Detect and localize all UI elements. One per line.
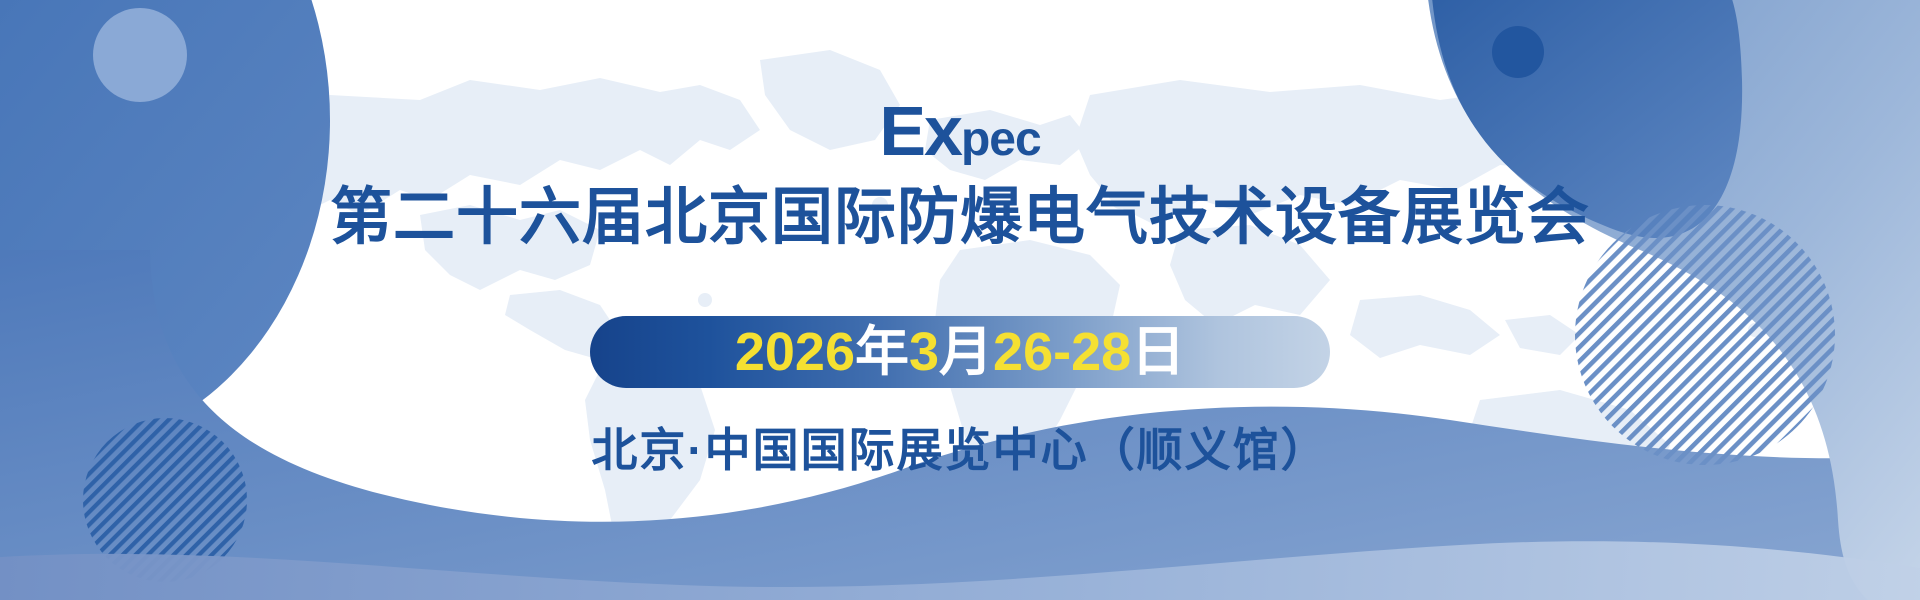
date-day-unit: 日	[1131, 322, 1185, 382]
date-month-unit: 月	[939, 322, 993, 382]
brand-logo-prefix: Ex	[879, 92, 961, 170]
event-date-text: 2026年3月26-28日	[735, 325, 1185, 379]
event-date-pill: 2026年3月26-28日	[590, 316, 1330, 388]
event-venue: 北京·中国国际展览中心（顺义馆）	[591, 414, 1328, 480]
date-year-unit: 年	[855, 322, 909, 382]
date-days: 26-28	[993, 322, 1131, 382]
event-banner: Expec 第二十六届北京国际防爆电气技术设备展览会 2026年3月26-28日…	[0, 0, 1920, 600]
brand-logo-suffix: pec	[961, 113, 1041, 166]
date-month: 3	[909, 322, 939, 382]
right-striped-circle-shape	[1575, 205, 1835, 465]
date-year: 2026	[735, 322, 855, 382]
bottom-wave-shape	[0, 541, 1920, 600]
foreground-decorations	[0, 0, 1920, 600]
event-title: 第二十六届北京国际防爆电气技术设备展览会	[330, 184, 1590, 252]
brand-logo: Expec	[879, 96, 1040, 166]
